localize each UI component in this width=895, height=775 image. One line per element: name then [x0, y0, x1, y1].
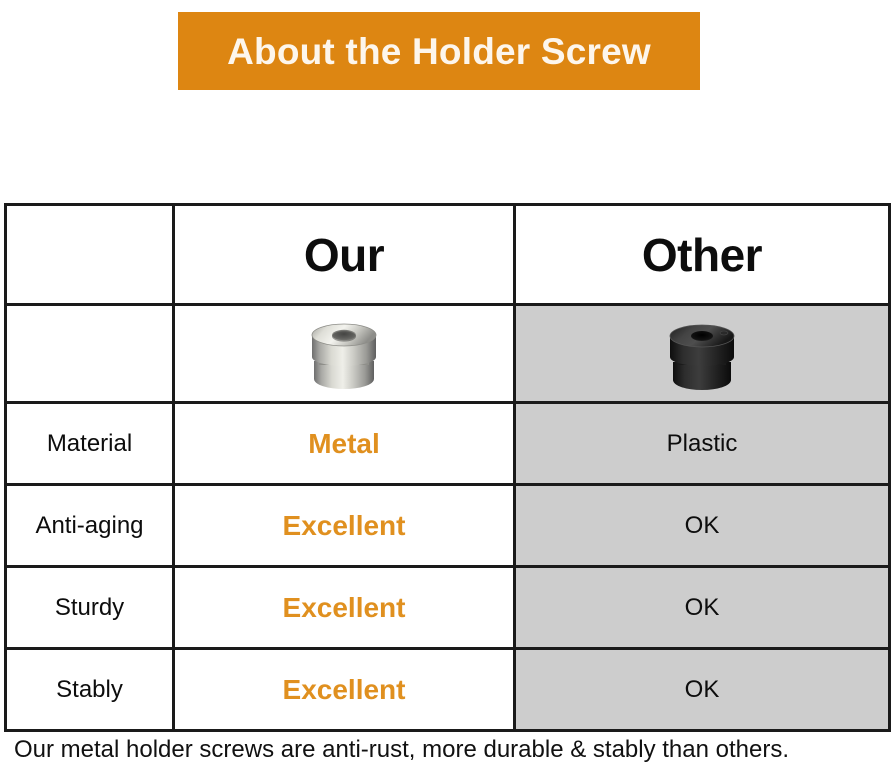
row-label: Stably: [56, 676, 123, 703]
image-row-label-cell: [6, 305, 174, 403]
row-our-cell: Excellent: [174, 567, 515, 649]
row-label: Sturdy: [55, 594, 124, 621]
page-title: About the Holder Screw: [227, 33, 651, 70]
row-label-cell: Stably: [6, 649, 174, 731]
header-label-other: Other: [642, 229, 762, 281]
row-other-value: OK: [685, 594, 720, 621]
row-other-value: Plastic: [667, 430, 738, 457]
table-row: Sturdy Excellent OK: [6, 567, 890, 649]
comparison-table-wrapper: Our Other: [4, 203, 888, 712]
table-row: Stably Excellent OK: [6, 649, 890, 731]
table-image-row: [6, 305, 890, 403]
comparison-table: Our Other: [4, 203, 891, 732]
row-our-value: Excellent: [283, 592, 406, 623]
header-banner: About the Holder Screw: [178, 12, 700, 90]
row-label-cell: Material: [6, 403, 174, 485]
footer-caption: Our metal holder screws are anti-rust, m…: [14, 737, 789, 763]
row-label-cell: Sturdy: [6, 567, 174, 649]
header-banner-area: About the Holder Screw: [0, 12, 895, 90]
metal-holder-screw-icon: [298, 315, 390, 393]
table-row: Anti-aging Excellent OK: [6, 485, 890, 567]
row-our-value: Excellent: [283, 510, 406, 541]
row-our-cell: Excellent: [174, 649, 515, 731]
header-cell-our: Our: [174, 205, 515, 305]
row-label-cell: Anti-aging: [6, 485, 174, 567]
row-our-value: Metal: [308, 428, 380, 459]
row-our-value: Excellent: [283, 674, 406, 705]
row-other-value: OK: [685, 676, 720, 703]
row-label: Material: [47, 430, 132, 457]
row-other-cell: Plastic: [515, 403, 890, 485]
plastic-holder-screw-icon: [656, 314, 748, 394]
our-product-image-cell: [174, 305, 515, 403]
header-cell-other: Other: [515, 205, 890, 305]
row-label: Anti-aging: [35, 512, 143, 539]
row-other-cell: OK: [515, 485, 890, 567]
header-cell-blank: [6, 205, 174, 305]
row-other-value: OK: [685, 512, 720, 539]
table-header-row: Our Other: [6, 205, 890, 305]
row-our-cell: Metal: [174, 403, 515, 485]
table-row: Material Metal Plastic: [6, 403, 890, 485]
row-other-cell: OK: [515, 567, 890, 649]
row-our-cell: Excellent: [174, 485, 515, 567]
row-other-cell: OK: [515, 649, 890, 731]
other-product-image-cell: [515, 305, 890, 403]
header-label-our: Our: [304, 229, 384, 281]
